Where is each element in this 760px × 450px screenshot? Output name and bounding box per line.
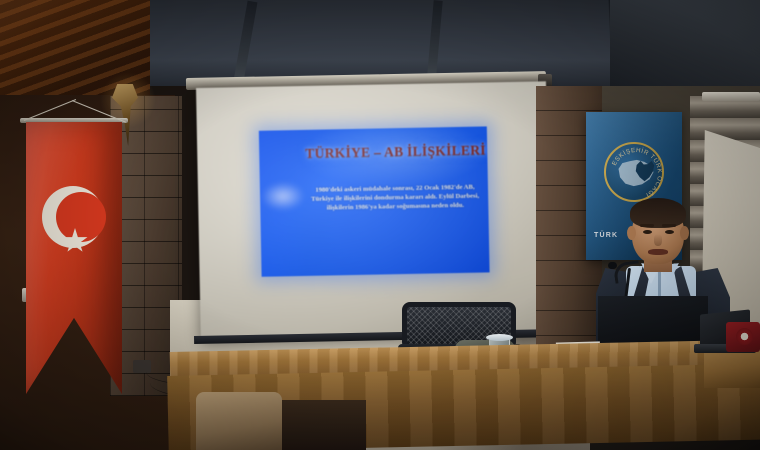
slide-body-text: 1980'deki askeri müdahale sonrası, 22 Oc… (304, 182, 486, 213)
emblem-ring-text: ESKİŞEHİR TÜRK OCAĞI (606, 144, 666, 204)
turk-ocagi-emblem-icon: ESKİŞEHİR TÜRK OCAĞI (604, 142, 664, 202)
projector-hotspot (262, 182, 305, 211)
nose (654, 234, 662, 246)
hair (630, 198, 686, 228)
emblem-map-shape (617, 158, 655, 190)
eyebrow-right (662, 224, 676, 227)
conference-room-scene: CONQUEST TÜRKİYE – AB İLİŞKİLERİ 1980'de… (0, 0, 760, 450)
ceiling-corner-shadow (610, 0, 760, 86)
water-glass-rim (486, 334, 513, 341)
ear-left (627, 226, 636, 240)
slide-glow (299, 126, 490, 190)
svg-text:ESKİŞEHİR TÜRK OCAĞI: ESKİŞEHİR TÜRK OCAĞI (611, 147, 663, 199)
presentation-slide: TÜRKİYE – AB İLİŞKİLERİ 1980'deki askeri… (259, 126, 490, 276)
foreground-chair (196, 392, 282, 450)
mouth (648, 249, 668, 255)
slide-left-gradient (259, 130, 308, 277)
crescent-cutout (56, 192, 106, 242)
emblem-wolf-head-icon (634, 161, 656, 183)
eyebrow-left (640, 224, 654, 227)
red-item-emblem-icon (736, 328, 753, 345)
eye-right (665, 230, 674, 234)
slide-title: TÜRKİYE – AB İLİŞKİLERİ (305, 142, 485, 161)
ear-right (680, 226, 689, 240)
ceiling-light-strip (702, 92, 760, 101)
microphone-head (608, 262, 617, 269)
eye-left (643, 230, 652, 234)
